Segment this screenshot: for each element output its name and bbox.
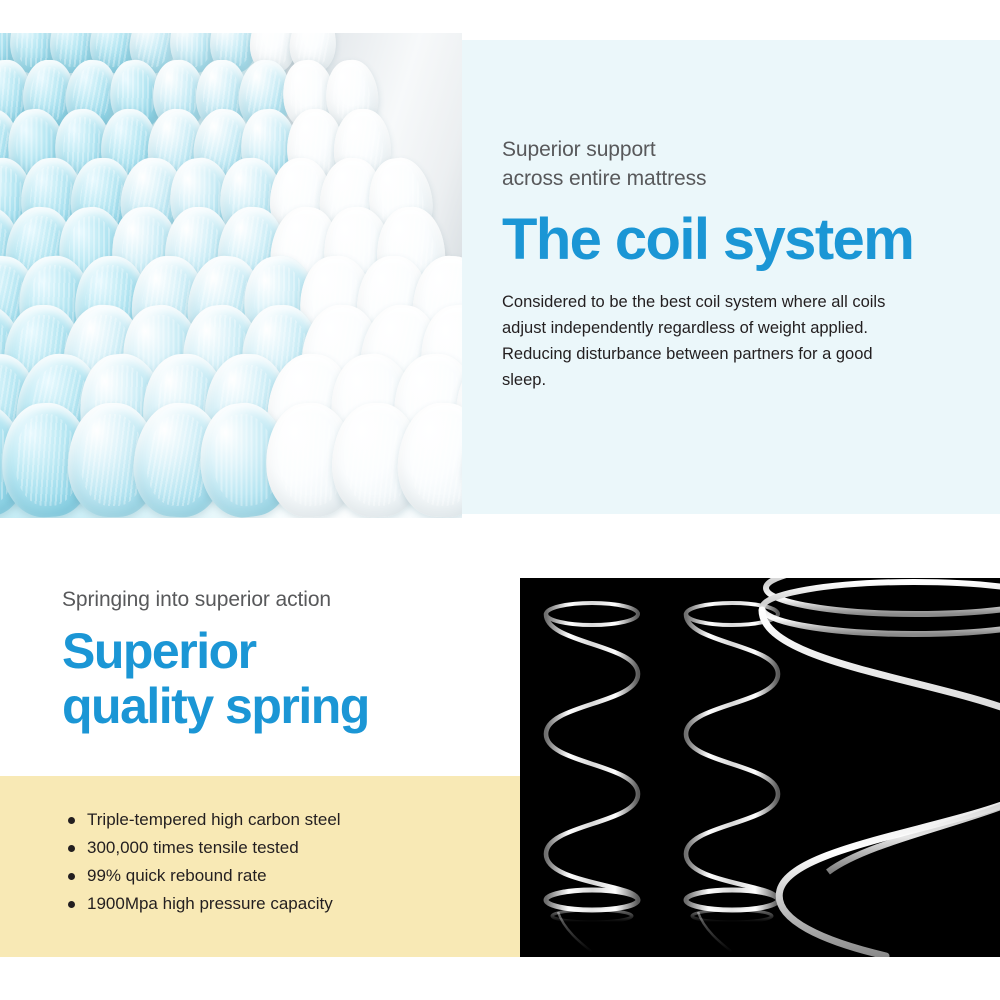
top-body-copy: Considered to be the best coil system wh… (502, 289, 900, 393)
feature-bullet-list: Triple-tempered high carbon steel300,000… (62, 806, 482, 918)
feature-bullet: 99% quick rebound rate (62, 862, 482, 890)
top-eyebrow-line-1: Superior support (502, 138, 656, 161)
feature-bullet: 1900Mpa high pressure capacity (62, 890, 482, 918)
top-text-block: Superior support across entire mattress … (502, 135, 922, 393)
springs-illustration (520, 578, 1000, 957)
top-eyebrow: Superior support across entire mattress (502, 135, 922, 193)
top-headline: The coil system (502, 207, 922, 273)
springs-photo (520, 578, 1000, 957)
feature-bullet: Triple-tempered high carbon steel (62, 806, 482, 834)
bottom-text-block: Springing into superior action Superior … (62, 585, 492, 734)
feature-bullet: 300,000 times tensile tested (62, 834, 482, 862)
bottom-eyebrow: Springing into superior action (62, 585, 492, 614)
infographic-page: Superior support across entire mattress … (0, 0, 1000, 1000)
bottom-headline: Superior quality spring (62, 624, 492, 734)
bottom-headline-line-1: Superior (62, 623, 256, 679)
bottom-headline-line-2: quality spring (62, 678, 369, 734)
pocket-coils-photo (0, 33, 462, 518)
top-eyebrow-line-2: across entire mattress (502, 167, 706, 190)
